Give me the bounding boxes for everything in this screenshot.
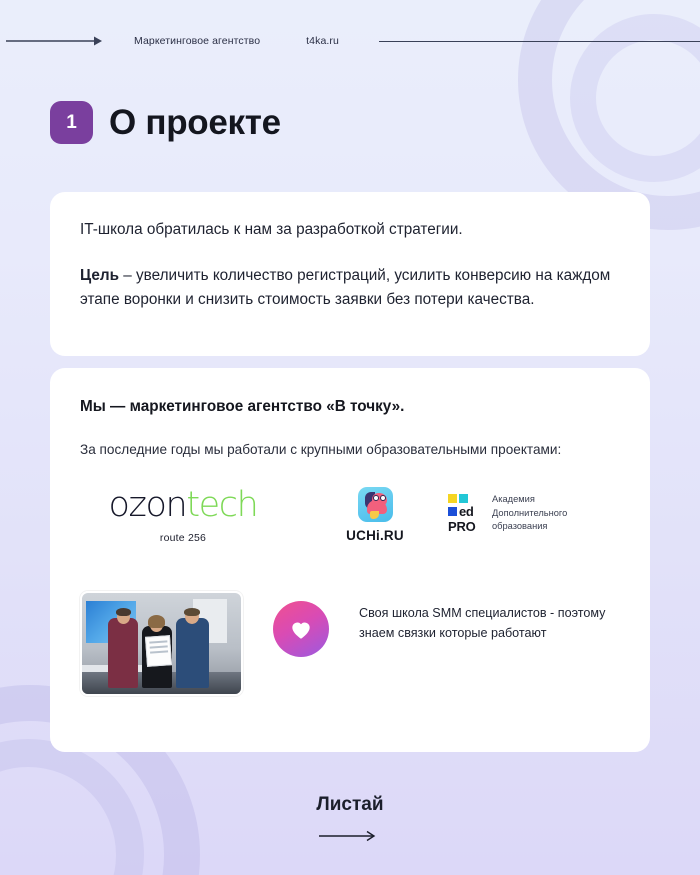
page-title: О проекте xyxy=(109,103,281,143)
step-badge: 1 xyxy=(50,101,93,144)
ozon-word: ozon xyxy=(109,485,187,525)
tech-word: tech xyxy=(186,485,257,525)
swipe-arrow-icon xyxy=(319,830,381,842)
uchi-dinosaur-icon xyxy=(358,487,393,522)
arrow-right-icon xyxy=(6,35,102,47)
topbar: Маркетинговое агентство t4ka.ru xyxy=(0,30,700,52)
edpro-square-blue xyxy=(448,507,457,516)
goal-text: – увеличить количество регистраций, усил… xyxy=(80,267,610,308)
heart-icon xyxy=(273,601,329,657)
agency-subheading: За последние годы мы работали с крупными… xyxy=(80,442,620,457)
goal-label: Цель xyxy=(80,267,119,284)
edpro-ed-text: ed xyxy=(459,505,473,518)
edpro-description: Академия Дополнительного образования xyxy=(492,493,567,534)
uchi-wordmark: UCHi.RU xyxy=(320,528,430,543)
step-badge-number: 1 xyxy=(66,112,77,134)
edpro-line-2: Дополнительного xyxy=(492,507,567,521)
footer: Листай xyxy=(0,794,700,847)
highlight-icon-wrap xyxy=(273,591,329,657)
edpro-square-yellow xyxy=(448,494,457,503)
swipe-label: Листай xyxy=(0,794,700,816)
edpro-square-cyan xyxy=(459,494,468,503)
logo-ozon-tech: ozontech route 256 xyxy=(92,487,274,544)
agency-heading: Мы — маркетинговое агентство «В точку». xyxy=(80,398,620,416)
agency-card: Мы — маркетинговое агентство «В точку». … xyxy=(50,368,650,752)
edpro-pro-text: PRO xyxy=(448,520,482,533)
team-photo xyxy=(80,591,243,696)
topbar-site-label: t4ka.ru xyxy=(306,35,339,47)
edpro-line-3: образования xyxy=(492,520,567,534)
topbar-agency-label: Маркетинговое агентство xyxy=(134,35,260,47)
client-logos: ozontech route 256 UCHi.RU xyxy=(80,487,620,565)
page-header: 1 О проекте xyxy=(50,101,281,144)
highlight-caption: Своя школа SMM специалистов - поэтому зн… xyxy=(359,603,620,644)
ozon-route-caption: route 256 xyxy=(92,532,274,544)
edpro-line-1: Академия xyxy=(492,493,567,507)
logo-uchi-ru: UCHi.RU xyxy=(320,487,430,543)
edpro-mark: ed PRO xyxy=(448,494,482,533)
topbar-divider-line xyxy=(379,41,700,42)
intro-paragraph-2: Цель – увеличить количество регистраций,… xyxy=(80,264,620,312)
logo-edpro: ed PRO Академия Дополнительного образова… xyxy=(448,493,567,534)
heart-glyph xyxy=(288,616,314,642)
intro-card: IT-школа обратилась к нам за разработкой… xyxy=(50,192,650,356)
ozon-tech-wordmark: ozontech xyxy=(109,487,258,523)
intro-paragraph-1: IT-школа обратилась к нам за разработкой… xyxy=(80,218,620,242)
team-highlight-row: Своя школа SMM специалистов - поэтому зн… xyxy=(80,591,620,696)
